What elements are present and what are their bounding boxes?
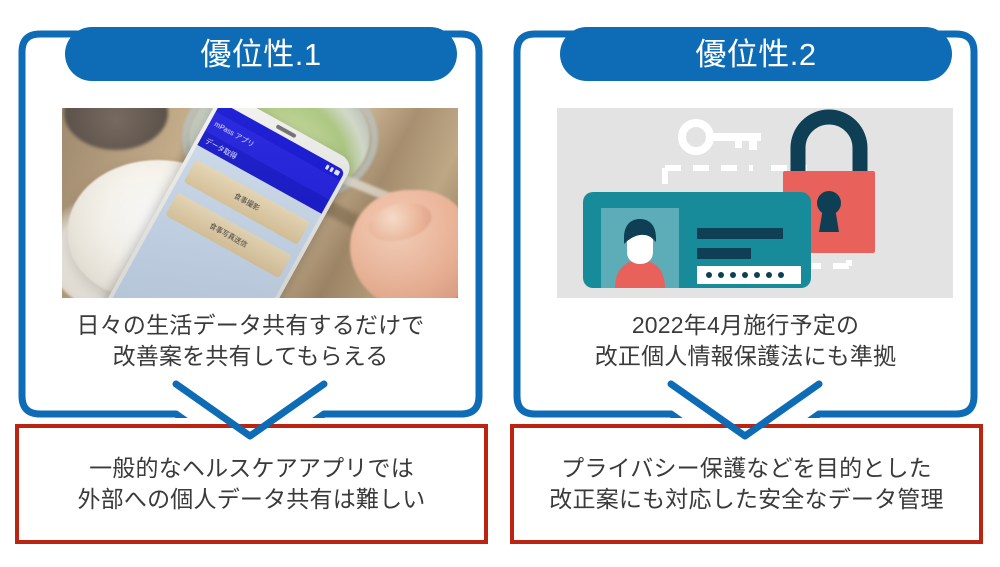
card-media-2 bbox=[557, 108, 953, 298]
card-caption-1: 日々の生活データ共有するだけで 改善案を共有してもらえる bbox=[32, 310, 469, 371]
id-card-line-2 bbox=[697, 248, 751, 259]
photo-finger bbox=[365, 197, 436, 247]
photo-salad-bowl-rim bbox=[182, 108, 378, 208]
photo-hand bbox=[350, 190, 458, 298]
smartphone-screen: mPass アプリ データ取得 食事撮影 食事写真送信 bbox=[108, 108, 346, 298]
photo-table-edge bbox=[263, 170, 458, 298]
card-header-label-1: 優位性.1 bbox=[200, 39, 321, 70]
photo-rice bbox=[68, 160, 248, 298]
photo-chopsticks bbox=[317, 165, 458, 241]
card-content-1: 優位性.1 bbox=[18, 30, 483, 418]
smartphone-mockup: mPass アプリ データ取得 食事撮影 食事写真送信 bbox=[102, 108, 354, 298]
phone-button-capture-meal[interactable]: 食事撮影 bbox=[184, 159, 310, 245]
advantage-column-2: 優位性.2 bbox=[505, 0, 990, 567]
callout-box-2: プライバシー保護などを目的とした 改正案にも対応した安全なデータ管理 bbox=[510, 424, 983, 544]
phone-section-title: データ取得 bbox=[197, 131, 329, 214]
photo-salad-bowl bbox=[188, 108, 370, 202]
card-caption-2: 2022年4月施行予定の 改正個人情報保護法にも準拠 bbox=[527, 310, 964, 371]
security-illustration bbox=[557, 108, 953, 298]
card-header-pill-1: 優位性.1 bbox=[65, 27, 457, 81]
battery-icon bbox=[334, 169, 341, 176]
card-header-label-2: 優位性.2 bbox=[695, 39, 816, 70]
phone-earpiece bbox=[276, 124, 297, 138]
wifi-icon bbox=[329, 167, 334, 173]
id-card-lock-illustration bbox=[557, 108, 953, 298]
id-card-icon bbox=[583, 192, 811, 288]
card-content-2: 優位性.2 bbox=[513, 30, 978, 418]
advantage-column-1: 優位性.1 bbox=[10, 0, 495, 567]
slide-canvas: 優位性.1 bbox=[0, 0, 1000, 567]
card-media-1: mPass アプリ データ取得 食事撮影 食事写真送信 bbox=[62, 108, 458, 298]
signal-icon bbox=[325, 164, 330, 170]
phone-appbar-title: mPass アプリ bbox=[205, 112, 340, 200]
photo-rice-dish bbox=[62, 204, 264, 298]
phone-status-bar bbox=[216, 108, 346, 181]
callout-text-1: 一般的なヘルスケアアプリでは 外部への個人データ共有は難しい bbox=[70, 453, 434, 514]
id-card-line-1 bbox=[697, 228, 783, 239]
advantage-card-2: 優位性.2 bbox=[513, 30, 978, 418]
photo-dark-bowl bbox=[64, 108, 168, 150]
callout-text-2: プライバシー保護などを目的とした 改正案にも対応した安全なデータ管理 bbox=[541, 453, 951, 514]
advantage-card-1: 優位性.1 bbox=[18, 30, 483, 418]
password-field bbox=[697, 266, 801, 284]
phone-button-send-meal-photo[interactable]: 食事写真送信 bbox=[165, 192, 291, 278]
card-header-pill-2: 優位性.2 bbox=[560, 27, 952, 81]
food-photo: mPass アプリ データ取得 食事撮影 食事写真送信 bbox=[62, 108, 458, 298]
callout-box-1: 一般的なヘルスケアアプリでは 外部への個人データ共有は難しい bbox=[15, 424, 488, 544]
